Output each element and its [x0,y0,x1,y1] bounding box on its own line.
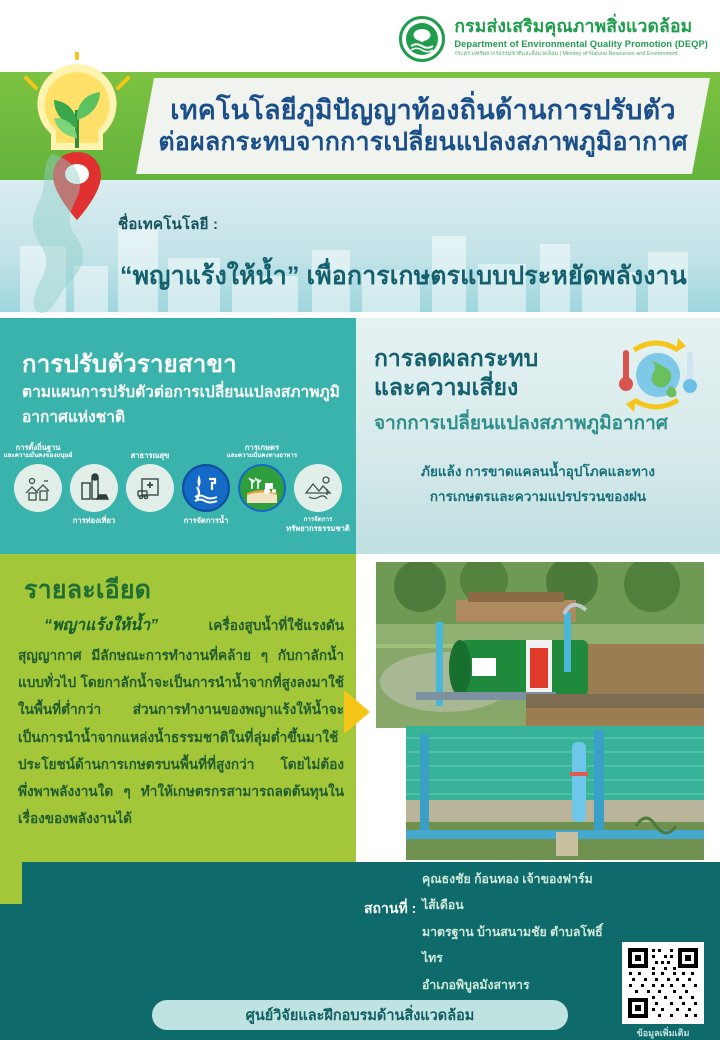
mitigation-heading-line-1: การลดผลกระทบ [374,344,538,373]
location-label: สถานที่ : [364,898,416,920]
mitigation-body-line-1: ภัยแล้ง การขาดแคลนน้ำอุปโภคและทาง [364,460,712,485]
green-barrel-vacuum-pump-photo [376,562,704,728]
sector-label-settlement: การตั้งถิ่นฐาน และความมั่นคงของมนุษย์ [0,443,86,460]
details-body-text: เครื่องสูบน้ำที่ใช้แรงดันสุญญากาศ มีลักษ… [18,618,344,826]
natural-resources-mountain-icon [294,464,342,512]
sector-item-agriculture[interactable]: การเกษตร และความมั่นคงทางอาหาร [234,464,290,512]
sector-label-natural-resources: การจัดการ ทรัพยากรธรรมชาติ [270,516,366,533]
organization-logo: กรมส่งเสริมคุณภาพสิ่งแวดล้อม Department … [399,16,708,62]
ministry-name: กระทรวงทรัพยากรธรรมชาติและสิ่งแวดล้อม | … [454,51,708,58]
poster-root: กรมส่งเสริมคุณภาพสิ่งแวดล้อม Department … [0,0,720,1040]
water-management-tap-river-icon [182,464,230,512]
arrow-right-icon [344,690,370,734]
location-line-1: คุณธงชัย ก้อนทอง เจ้าของฟาร์มไส้เดือน [422,866,622,919]
adaptation-panel: การปรับตัวรายสาขา ตามแผนการปรับตัวต่อการ… [0,318,356,554]
mitigation-panel: การลดผลกระทบ และความเสี่ยง จากการเปลี่ยน… [356,318,720,554]
tree-water-emblem-icon [399,16,445,62]
title-line-2: ต่อผลกระทบจากการเปลี่ยนแปลงสภาพภูมิอากาศ [158,127,687,157]
blue-pipe-green-net-photo [406,726,704,860]
sector-label-public-health: สาธารณสุข [102,451,198,460]
globe-thermometer-icon [608,336,704,414]
sector-item-public-health[interactable]: สาธารณสุข [122,464,178,512]
sector-item-tourism[interactable]: การท่องเที่ยว [66,464,122,512]
sector-label-agriculture: การเกษตร และความมั่นคงทางอาหาร [214,443,310,460]
location-line-3: อำเภอพิบูลมังสาหาร [422,972,622,998]
mitigation-body: ภัยแล้ง การขาดแคลนน้ำอุปโภคและทาง การเกษ… [364,460,712,510]
mitigation-heading-line-2: และความเสี่ยง [374,373,538,402]
footer-pill: ศูนย์วิจัยและฝึกอบรมด้านสิ่งแวดล้อม [152,1000,568,1030]
sector-item-settlement[interactable]: การตั้งถิ่นฐาน และความมั่นคงของมนุษย์ [10,464,66,512]
qr-caption: ข้อมูลเพิ่มเติม [622,1026,704,1040]
agriculture-field-tractor-icon [238,464,286,512]
sector-label-water-management: การจัดการน้ำ [158,516,254,525]
details-body: “พญาแร้งให้น้ำ” เครื่องสูบน้ำที่ใช้แรงดั… [18,610,344,832]
sector-label-tourism: การท่องเที่ยว [46,516,142,525]
sector-item-natural-resources[interactable]: การจัดการ ทรัพยากรธรรมชาติ [290,464,346,512]
location-line-2: มาตรฐาน บ้านสนามชัย ตำบลโพธิ์ไทร [422,919,622,972]
details-heading: รายละเอียด [24,570,151,610]
mitigation-heading: การลดผลกระทบ และความเสี่ยง [374,344,538,403]
qr-code-icon[interactable] [622,942,704,1024]
technology-name-value: “พญาแร้งให้น้ำ” เพื่อการเกษตรแบบประหยัดพ… [120,256,710,296]
details-highlight-term: “พญาแร้งให้น้ำ” [44,617,158,634]
details-panel: รายละเอียด “พญาแร้งให้น้ำ” เครื่องสูบน้ำ… [0,554,356,870]
mitigation-body-line-2: การเกษตรและความแปรปรวนของฝน [364,485,712,510]
green-accent-tab [0,862,22,904]
title-banner: เทคโนโลยีภูมิปัญญาท้องถิ่นด้านการปรับตัว… [136,78,710,174]
sector-item-water-management[interactable]: การจัดการน้ำ [178,464,234,512]
settlement-houses-icon [14,464,62,512]
sector-icon-row: การตั้งถิ่นฐาน และความมั่นคงของมนุษย์ [8,464,352,548]
org-name-en: Department of Environmental Quality Prom… [454,38,708,50]
adaptation-heading: การปรับตัวรายสาขา [22,344,237,383]
public-health-hospital-icon [126,464,174,512]
thailand-map-icon [4,150,120,320]
title-line-1: เทคโนโลยีภูมิปัญญาท้องถิ่นด้านการปรับตัว [170,95,675,127]
adaptation-subheading: ตามแผนการปรับตัวต่อการเปลี่ยนแปลงสภาพภูม… [22,380,342,430]
footer-text: ศูนย์วิจัยและฝึกอบรมด้านสิ่งแวดล้อม [246,1004,475,1027]
tourism-city-car-icon [70,464,118,512]
technology-name-label: ชื่อเทคโนโลยี : [118,212,218,236]
org-name-th: กรมส่งเสริมคุณภาพสิ่งแวดล้อม [454,17,708,37]
